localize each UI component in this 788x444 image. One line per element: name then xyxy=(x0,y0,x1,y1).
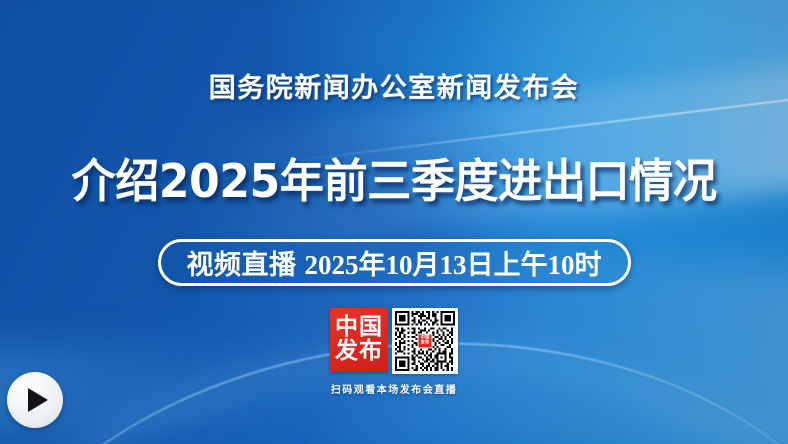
play-triangle-icon xyxy=(28,388,48,412)
brand-logo-line-2: 发布 xyxy=(335,340,383,364)
poster-content: 国务院新闻办公室新闻发布会 介绍2025年前三季度进出口情况 视频直播 2025… xyxy=(0,0,788,444)
codes-row: 中国 发布 xyxy=(330,308,458,374)
qr-code[interactable]: 中国 发布 xyxy=(392,308,458,374)
live-badge-label: 视频直播 xyxy=(187,243,297,282)
qr-center-brand-line-2: 发布 xyxy=(421,341,430,346)
video-poster-frame: 国务院新闻办公室新闻发布会 介绍2025年前三季度进出口情况 视频直播 2025… xyxy=(0,0,788,444)
scan-block: 中国 发布 xyxy=(330,308,458,396)
page-title: 介绍2025年前三季度进出口情况 xyxy=(71,145,716,211)
play-button[interactable] xyxy=(7,372,63,428)
live-badge-date: 2025年10月13日上午10时 xyxy=(305,243,602,282)
qr-center-brand-icon: 中国 发布 xyxy=(418,334,433,349)
scan-caption: 扫码观看本场发布会直播 xyxy=(331,381,458,396)
brand-logo: 中国 发布 xyxy=(330,308,388,372)
poster-kicker: 国务院新闻办公室新闻发布会 xyxy=(209,66,580,105)
live-badge: 视频直播 2025年10月13日上午10时 xyxy=(158,239,631,286)
brand-logo-line-1: 中国 xyxy=(335,316,383,340)
